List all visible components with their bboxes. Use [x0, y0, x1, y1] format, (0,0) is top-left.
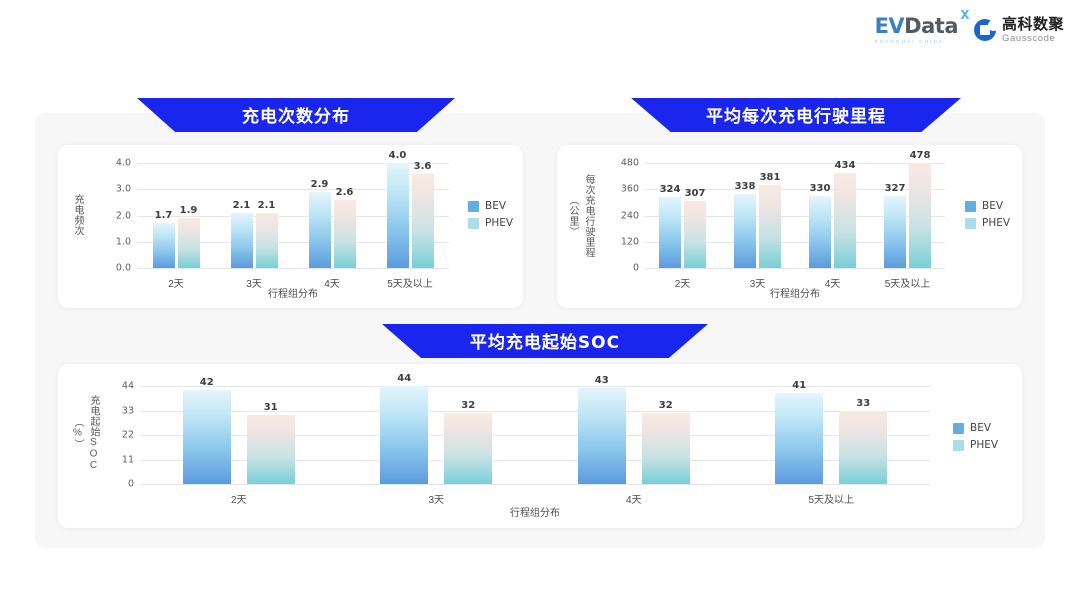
gridline: [140, 484, 930, 485]
evdata-prefix: EV: [875, 14, 905, 38]
y-axis-tick: 3.0: [116, 184, 131, 195]
y-axis-tick: 360: [621, 184, 639, 195]
bar-bev[interactable]: 43: [578, 388, 626, 484]
y-axis-label: 充电起始SOC（%）: [70, 382, 101, 484]
bar-value-label: 41: [792, 380, 806, 391]
bar-group: 3304344天: [795, 163, 870, 268]
evdata-suffix: Data: [904, 14, 958, 38]
bar-bev[interactable]: 327: [884, 196, 906, 268]
bar-phev[interactable]: 31: [247, 415, 295, 484]
bar-value-label: 32: [659, 400, 673, 411]
bar-value-label: 42: [200, 377, 214, 388]
x-axis-label: 行程组分布: [140, 504, 930, 519]
y-axis-label-line: （%）: [70, 417, 85, 450]
y-axis-label-line: 每次充电行驶里程: [581, 174, 596, 258]
bar-value-label: 32: [461, 400, 475, 411]
bar-value-label: 31: [264, 402, 278, 413]
bar-bev[interactable]: 42: [183, 390, 231, 484]
legend-swatch-bev: [953, 423, 964, 434]
bar-value-label: 1.7: [155, 210, 173, 221]
bar-chart-start-soc: 充电起始SOC（%）01122334442312天44323天43324天413…: [58, 364, 1022, 528]
y-axis-tick: 11: [122, 454, 134, 465]
bar-value-label: 2.6: [336, 187, 354, 198]
gridline: [645, 268, 945, 269]
bar-value-label: 3.6: [414, 161, 432, 172]
gausscode-name-en: Gausscode: [1002, 34, 1064, 44]
legend-item-bev[interactable]: BEV: [953, 422, 998, 434]
x-axis-label: 行程组分布: [645, 285, 945, 300]
chart-legend: BEVPHEV: [468, 200, 513, 229]
bar-value-label: 327: [885, 183, 906, 194]
bar-phev[interactable]: 381: [759, 185, 781, 268]
bar-value-label: 44: [397, 373, 411, 384]
bar-group: 44323天: [338, 386, 536, 484]
logo-group: EVDataX SHANGHAI CHINA 高科数聚 Gausscode: [875, 16, 1064, 44]
bar-group: 3383813天: [720, 163, 795, 268]
bar-value-label: 324: [660, 184, 681, 195]
evdata-superscript-icon: X: [960, 9, 969, 21]
bar-value-label: 1.9: [180, 205, 198, 216]
plot-area: 0.01.02.03.04.01.71.92天2.12.13天2.92.64天4…: [137, 163, 449, 268]
legend-label: PHEV: [485, 217, 513, 229]
y-axis-tick: 2.0: [116, 210, 131, 221]
page-header: EVDataX SHANGHAI CHINA 高科数聚 Gausscode: [0, 0, 1080, 62]
bar-phev[interactable]: 3.6: [412, 174, 434, 269]
y-axis-tick: 480: [621, 158, 639, 169]
bar-value-label: 4.0: [389, 150, 407, 161]
evdata-wordmark: EVDataX: [875, 16, 958, 37]
y-axis-tick: 4.0: [116, 158, 131, 169]
y-axis-tick: 240: [621, 210, 639, 221]
legend-item-bev[interactable]: BEV: [965, 200, 1010, 212]
chart-title-banner-3: 平均充电起始SOC: [382, 324, 708, 358]
bar-bev[interactable]: 4.0: [387, 163, 409, 268]
y-axis-tick: 120: [621, 236, 639, 247]
chart-title-text-3: 平均充电起始SOC: [470, 328, 620, 353]
y-axis-tick: 22: [122, 430, 134, 441]
bar-value-label: 2.1: [258, 200, 276, 211]
bar-group: 4.03.65天及以上: [371, 163, 449, 268]
gausscode-name-cn: 高科数聚: [1002, 17, 1064, 32]
evdata-subtitle: SHANGHAI CHINA: [875, 39, 945, 44]
plot-area: 01202403604803243072天3383813天3304344天327…: [645, 163, 945, 268]
bar-phev[interactable]: 2.1: [256, 213, 278, 268]
y-axis-tick: 0.0: [116, 263, 131, 274]
bar-value-label: 434: [835, 160, 856, 171]
chart-title-text-2: 平均每次充电行驶里程: [706, 102, 886, 127]
legend-label: BEV: [970, 422, 991, 434]
y-axis-label: 每次充电行驶里程（公里）: [565, 157, 596, 275]
bar-value-label: 2.9: [311, 179, 329, 190]
bar-phev[interactable]: 32: [444, 413, 492, 484]
bar-bev[interactable]: 1.7: [153, 223, 175, 268]
gausscode-text: 高科数聚 Gausscode: [1002, 17, 1064, 44]
y-axis-tick: 44: [122, 381, 134, 392]
chart-card-distance-per-charge: 每次充电行驶里程（公里）01202403604803243072天3383813…: [557, 145, 1022, 308]
x-axis-label: 行程组分布: [137, 285, 449, 300]
bar-phev[interactable]: 1.9: [178, 218, 200, 268]
bar-phev[interactable]: 2.6: [334, 200, 356, 268]
plot-area: 01122334442312天44323天43324天41335天及以上: [140, 386, 930, 484]
chart-title-banner-1: 充电次数分布: [137, 98, 455, 132]
chart-legend: BEVPHEV: [953, 422, 998, 451]
y-axis-tick: 0: [633, 263, 639, 274]
bar-phev[interactable]: 32: [642, 413, 690, 484]
bar-group: 3243072天: [645, 163, 720, 268]
bar-bev[interactable]: 338: [734, 194, 756, 268]
legend-swatch-phev: [965, 218, 976, 229]
bar-value-label: 2.1: [233, 200, 251, 211]
legend-label: BEV: [485, 200, 506, 212]
y-axis-label-line: 充电起始SOC: [86, 395, 101, 472]
legend-swatch-phev: [953, 440, 964, 451]
bar-group: 1.71.92天: [137, 163, 215, 268]
y-axis-tick: 33: [122, 405, 134, 416]
bar-group: 3274785天及以上: [870, 163, 945, 268]
legend-swatch-phev: [468, 218, 479, 229]
bar-value-label: 381: [760, 172, 781, 183]
bar-group: 42312天: [140, 386, 338, 484]
bar-bev[interactable]: 2.1: [231, 213, 253, 268]
y-axis-label-line: 充电频次: [70, 194, 85, 236]
bar-value-label: 330: [810, 183, 831, 194]
bar-bev[interactable]: 44: [380, 386, 428, 484]
bar-phev[interactable]: 478: [909, 163, 931, 268]
bar-chart-charge-frequency: 充电频次0.01.02.03.04.01.71.92天2.12.13天2.92.…: [58, 145, 523, 308]
bar-group: 43324天: [535, 386, 733, 484]
bar-phev[interactable]: 434: [834, 173, 856, 268]
bar-bev[interactable]: 41: [775, 393, 823, 484]
legend-item-phev[interactable]: PHEV: [965, 217, 1010, 229]
gausscode-mark-icon: [974, 19, 996, 41]
legend-swatch-bev: [468, 201, 479, 212]
bar-group: 2.12.13天: [215, 163, 293, 268]
legend-item-bev[interactable]: BEV: [468, 200, 513, 212]
bar-chart-distance-per-charge: 每次充电行驶里程（公里）01202403604803243072天3383813…: [557, 145, 1022, 308]
legend-label: PHEV: [970, 439, 998, 451]
chart-card-start-soc: 充电起始SOC（%）01122334442312天44323天43324天413…: [58, 364, 1022, 528]
legend-label: PHEV: [982, 217, 1010, 229]
bar-bev[interactable]: 330: [809, 196, 831, 268]
bar-value-label: 43: [595, 375, 609, 386]
legend-item-phev[interactable]: PHEV: [468, 217, 513, 229]
legend-item-phev[interactable]: PHEV: [953, 439, 998, 451]
bar-value-label: 478: [910, 150, 931, 161]
bar-group: 2.92.64天: [293, 163, 371, 268]
bar-value-label: 33: [856, 398, 870, 409]
evdata-logo: EVDataX SHANGHAI CHINA: [875, 16, 958, 44]
chart-title-banner-2: 平均每次充电行驶里程: [631, 98, 961, 132]
gridline: [137, 268, 449, 269]
chart-legend: BEVPHEV: [965, 200, 1010, 229]
chart-card-charge-frequency: 充电频次0.01.02.03.04.01.71.92天2.12.13天2.92.…: [58, 145, 523, 308]
bar-group: 41335天及以上: [733, 386, 931, 484]
bar-value-label: 338: [735, 181, 756, 192]
bar-bev[interactable]: 2.9: [309, 192, 331, 268]
bar-phev[interactable]: 307: [684, 201, 706, 268]
bar-phev[interactable]: 33: [839, 411, 887, 485]
legend-label: BEV: [982, 200, 1003, 212]
y-axis-label: 充电频次: [70, 167, 85, 262]
y-axis-tick: 0: [128, 479, 134, 490]
bar-bev[interactable]: 324: [659, 197, 681, 268]
bar-value-label: 307: [685, 188, 706, 199]
y-axis-label-line: （公里）: [565, 195, 580, 237]
y-axis-tick: 1.0: [116, 236, 131, 247]
gausscode-logo: 高科数聚 Gausscode: [974, 17, 1064, 44]
legend-swatch-bev: [965, 201, 976, 212]
chart-title-text-1: 充电次数分布: [242, 102, 350, 127]
